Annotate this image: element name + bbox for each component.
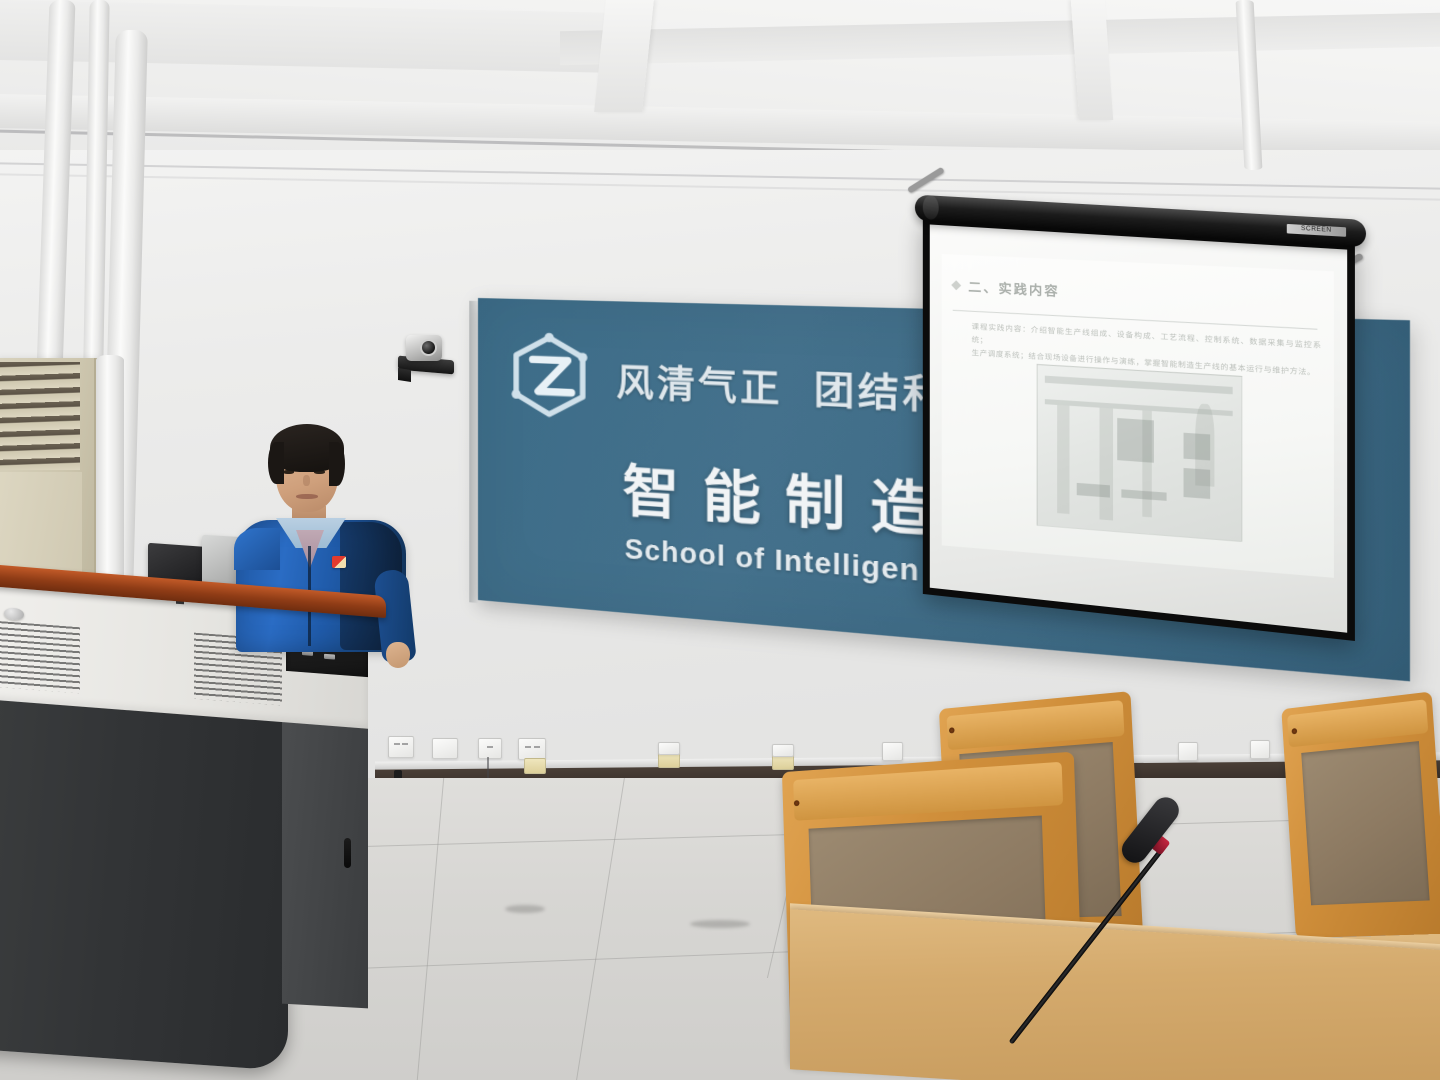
wall-socket-2[interactable]: [432, 738, 458, 759]
lectern-door-handle[interactable]: [344, 838, 351, 868]
presenter-hair-right: [329, 442, 345, 486]
socket-3-cord: [487, 757, 489, 779]
wall-socket-5-body[interactable]: [658, 742, 680, 755]
camera-lens-icon: [420, 339, 437, 356]
lectern-side-panel: [282, 704, 368, 1009]
wall-socket-1[interactable]: [388, 736, 414, 758]
sign-left-edge: [469, 301, 478, 603]
ptz-camera-icon[interactable]: [398, 335, 454, 377]
wall-socket-8[interactable]: [1178, 742, 1198, 761]
hexagon-ribbon-logo-icon: [503, 329, 595, 426]
presenter-hand: [386, 642, 410, 668]
sign-slogan-part-1: 风清气正: [616, 361, 782, 411]
slide-title-bar: 二、实践内容: [949, 266, 1326, 323]
screen-roller-cap: [923, 195, 939, 220]
lectern-cabinet[interactable]: [0, 689, 288, 1071]
projected-slide: 二、实践内容 课程实践内容：介绍智能生产线组成、设备构成、工艺流程、控制系统、数…: [942, 254, 1334, 578]
presenter-nose: [303, 475, 310, 486]
ac-louvers: [0, 362, 80, 470]
ceiling-beam-left: [594, 0, 654, 112]
screen-brand-label: SCREEN: [1287, 224, 1346, 237]
pull-down-projection-screen[interactable]: SCREEN 二、实践内容 课程实践内容：介绍智能生产线组成、设备构成、工艺流程…: [905, 196, 1360, 650]
lecture-room-photograph: 风清气正团结和谐 智能制造 School of Intelligen SCREE…: [0, 0, 1440, 1080]
presenter-hair-left: [268, 442, 284, 484]
wall-socket-7[interactable]: [882, 742, 903, 761]
wall-socket-9[interactable]: [1250, 740, 1270, 759]
screen-frame: 二、实践内容 课程实践内容：介绍智能生产线组成、设备构成、工艺流程、控制系统、数…: [923, 217, 1355, 641]
wall-socket-3[interactable]: [478, 738, 502, 759]
wall-socket-4-faceplate: [524, 758, 546, 774]
presenter-mouth: [296, 494, 318, 499]
presenter-shoulder-left: [234, 528, 280, 570]
lectern-vent-left: [0, 621, 80, 694]
slide-figure-production-line: [1036, 365, 1242, 542]
wall-socket-6-body[interactable]: [772, 744, 794, 757]
screen-canvas: 二、实践内容 课程实践内容：介绍智能生产线组成、设备构成、工艺流程、控制系统、数…: [930, 224, 1347, 632]
camera-wall-mount: [398, 368, 411, 382]
slide-title-marker-icon: [952, 281, 962, 291]
ceiling-beam-right: [1071, 0, 1113, 120]
microphone-head: [1117, 792, 1184, 868]
ceiling-panel-band: [560, 13, 1440, 65]
wall-socket-4[interactable]: [518, 738, 546, 760]
gooseneck-microphone-icon[interactable]: [1110, 782, 1370, 1080]
control-button-5[interactable]: [324, 654, 335, 660]
presenter-lapel-pin: [332, 556, 346, 568]
slide-title: 二、实践内容: [968, 277, 1059, 301]
